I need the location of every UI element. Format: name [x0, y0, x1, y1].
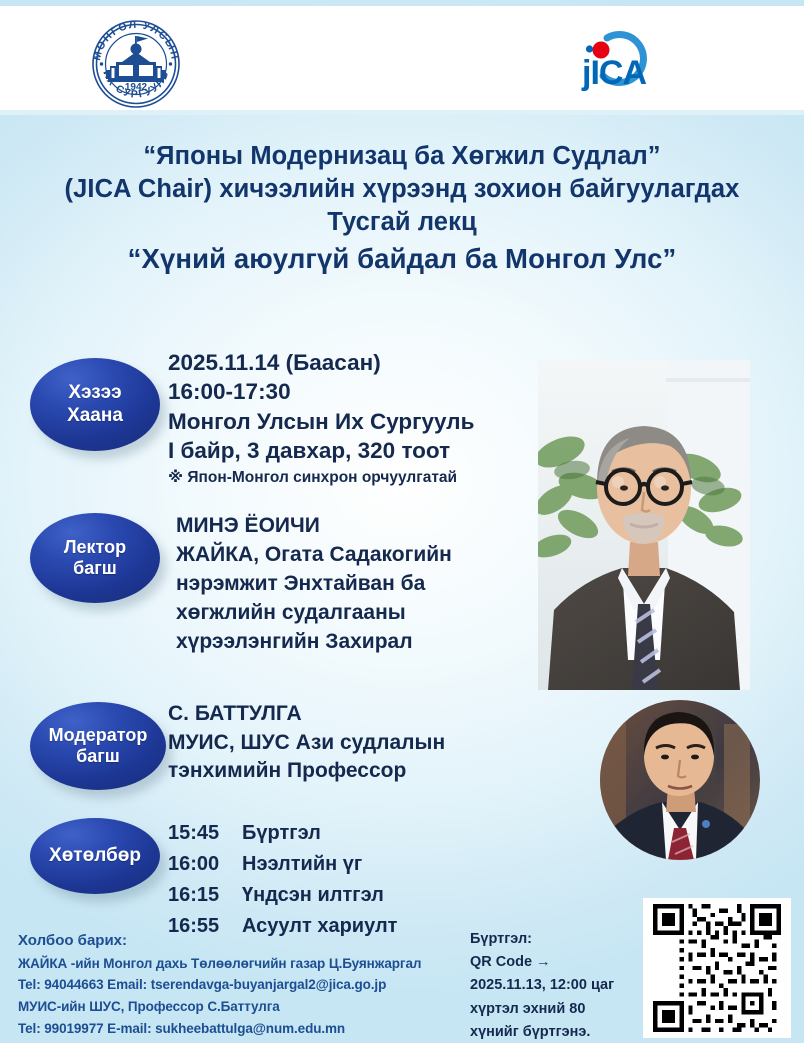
header-band: МОНГОЛ УЛСЫН ИХ СУРГУУЛЬ	[0, 6, 804, 110]
title-line-3: Тусгай лекц	[0, 206, 804, 239]
lecturer-line-3: хөгжлийн судалгааны	[176, 599, 536, 628]
register-heading: Бүртгэл:	[470, 928, 650, 951]
program-label-2: Үндсэн илтгэл	[242, 880, 528, 911]
contact-heading: Холбоо барих:	[18, 930, 478, 953]
program-row: 15:45 Бүртгэл	[168, 818, 528, 849]
moderator-line-0: С. БАТТУЛГА	[168, 700, 528, 729]
bubble-program-line1: Хөтөлбөр	[49, 845, 141, 867]
when-line-3: I байр, 3 давхар, 320 тоот	[168, 436, 538, 465]
label-bubble-lecturer: Лектор багш	[30, 513, 160, 603]
moderator-line-2: тэнхимийн Профессор	[168, 757, 528, 786]
qr-code[interactable]	[643, 898, 791, 1038]
when-line-2: Монгол Улсын Их Сургууль	[168, 407, 538, 436]
register-deadline: 2025.11.13, 12:00 цаг	[470, 974, 650, 997]
title-line-1: “Японы Модернизац ба Хөгжил Судлал”	[0, 140, 804, 173]
svg-text:jICA: jICA	[581, 54, 646, 92]
lecturer-line-0: МИНЭ ЁОИЧИ	[176, 512, 536, 541]
program-row: 16:00 Нээлтийн үг	[168, 849, 528, 880]
program-row: 16:15 Үндсэн илтгэл	[168, 880, 528, 911]
label-bubble-program: Хөтөлбөр	[30, 818, 160, 894]
when-line-1: 16:00-17:30	[168, 377, 538, 406]
bubble-when-line1: Хэзээ	[67, 382, 123, 404]
register-limit-line-1: хүртэл эхний 80	[470, 998, 650, 1021]
bubble-when-line2: Хаана	[67, 405, 123, 427]
registration-block: Бүртгэл: QR Code → 2025.11.13, 12:00 цаг…	[470, 928, 650, 1043]
title-line-2: (JICA Chair) хичээлийн хүрээнд зохион ба…	[0, 173, 804, 206]
program-time-1: 16:00	[168, 849, 242, 880]
jica-logo: jICA	[565, 28, 675, 94]
bubble-moderator-line2: багш	[49, 746, 148, 767]
program-label-0: Бүртгэл	[242, 818, 528, 849]
moderator-line-1: МУИС, ШУС Ази судлалын	[168, 729, 528, 758]
label-bubble-when-where: Хэзээ Хаана	[30, 358, 160, 451]
bubble-lecturer-line1: Лектор	[64, 537, 126, 558]
contact-line-1: ЖАЙКА -ийн Монгол дахь Төлөөлөгчийн газа…	[18, 953, 478, 975]
contact-block: Холбоо барих: ЖАЙКА -ийн Монгол дахь Төл…	[18, 930, 478, 1040]
moderator-text: С. БАТТУЛГА МУИС, ШУС Ази судлалын тэнхи…	[168, 700, 528, 786]
register-limit-line-2: хүнийг бүртгэнэ.	[470, 1021, 650, 1043]
moderator-portrait-photo	[600, 700, 760, 860]
when-where-text: 2025.11.14 (Баасан) 16:00-17:30 Монгол У…	[168, 348, 538, 489]
lecturer-line-2: нэрэмжит Энхтайван ба	[176, 570, 536, 599]
program-time-2: 16:15	[168, 880, 242, 911]
lecturer-line-1: ЖАЙКА, Огата Садакогийн	[176, 541, 536, 570]
program-time-0: 15:45	[168, 818, 242, 849]
contact-line-4[interactable]: Tel: 99019977 E-mail: sukheebattulga@num…	[18, 1018, 478, 1040]
register-qr-pointer: QR Code →	[470, 951, 650, 974]
title-line-4: “Хүний аюулгүй байдал ба Монгол Улс”	[0, 241, 804, 277]
bubble-lecturer-line2: багш	[64, 558, 126, 579]
label-bubble-moderator: Модератор багш	[30, 702, 166, 790]
lecturer-portrait-photo	[538, 360, 750, 690]
num-seal-logo: МОНГОЛ УЛСЫН ИХ СУРГУУЛЬ	[72, 18, 200, 110]
bubble-moderator-line1: Модератор	[49, 725, 148, 746]
event-poster: МОНГОЛ УЛСЫН ИХ СУРГУУЛЬ	[0, 0, 804, 1043]
lecturer-line-4: хүрээлэнгийн Захирал	[176, 628, 536, 657]
poster-title: “Японы Модернизац ба Хөгжил Судлал” (JIC…	[0, 140, 804, 277]
contact-line-3: МУИС-ийн ШУС, Профессор С.Баттулга	[18, 996, 478, 1018]
interpretation-note: ※ Япон-Монгол синхрон орчуулгатай	[168, 466, 538, 489]
lecturer-text: МИНЭ ЁОИЧИ ЖАЙКА, Огата Садакогийн нэрэм…	[176, 512, 536, 657]
svg-text:1942: 1942	[125, 82, 148, 93]
program-text: 15:45 Бүртгэл 16:00 Нээлтийн үг 16:15 Үн…	[168, 818, 528, 942]
program-label-1: Нээлтийн үг	[242, 849, 528, 880]
contact-line-2[interactable]: Tel: 94044663 Email: tserendavga-buyanja…	[18, 974, 478, 996]
when-line-0: 2025.11.14 (Баасан)	[168, 348, 538, 377]
